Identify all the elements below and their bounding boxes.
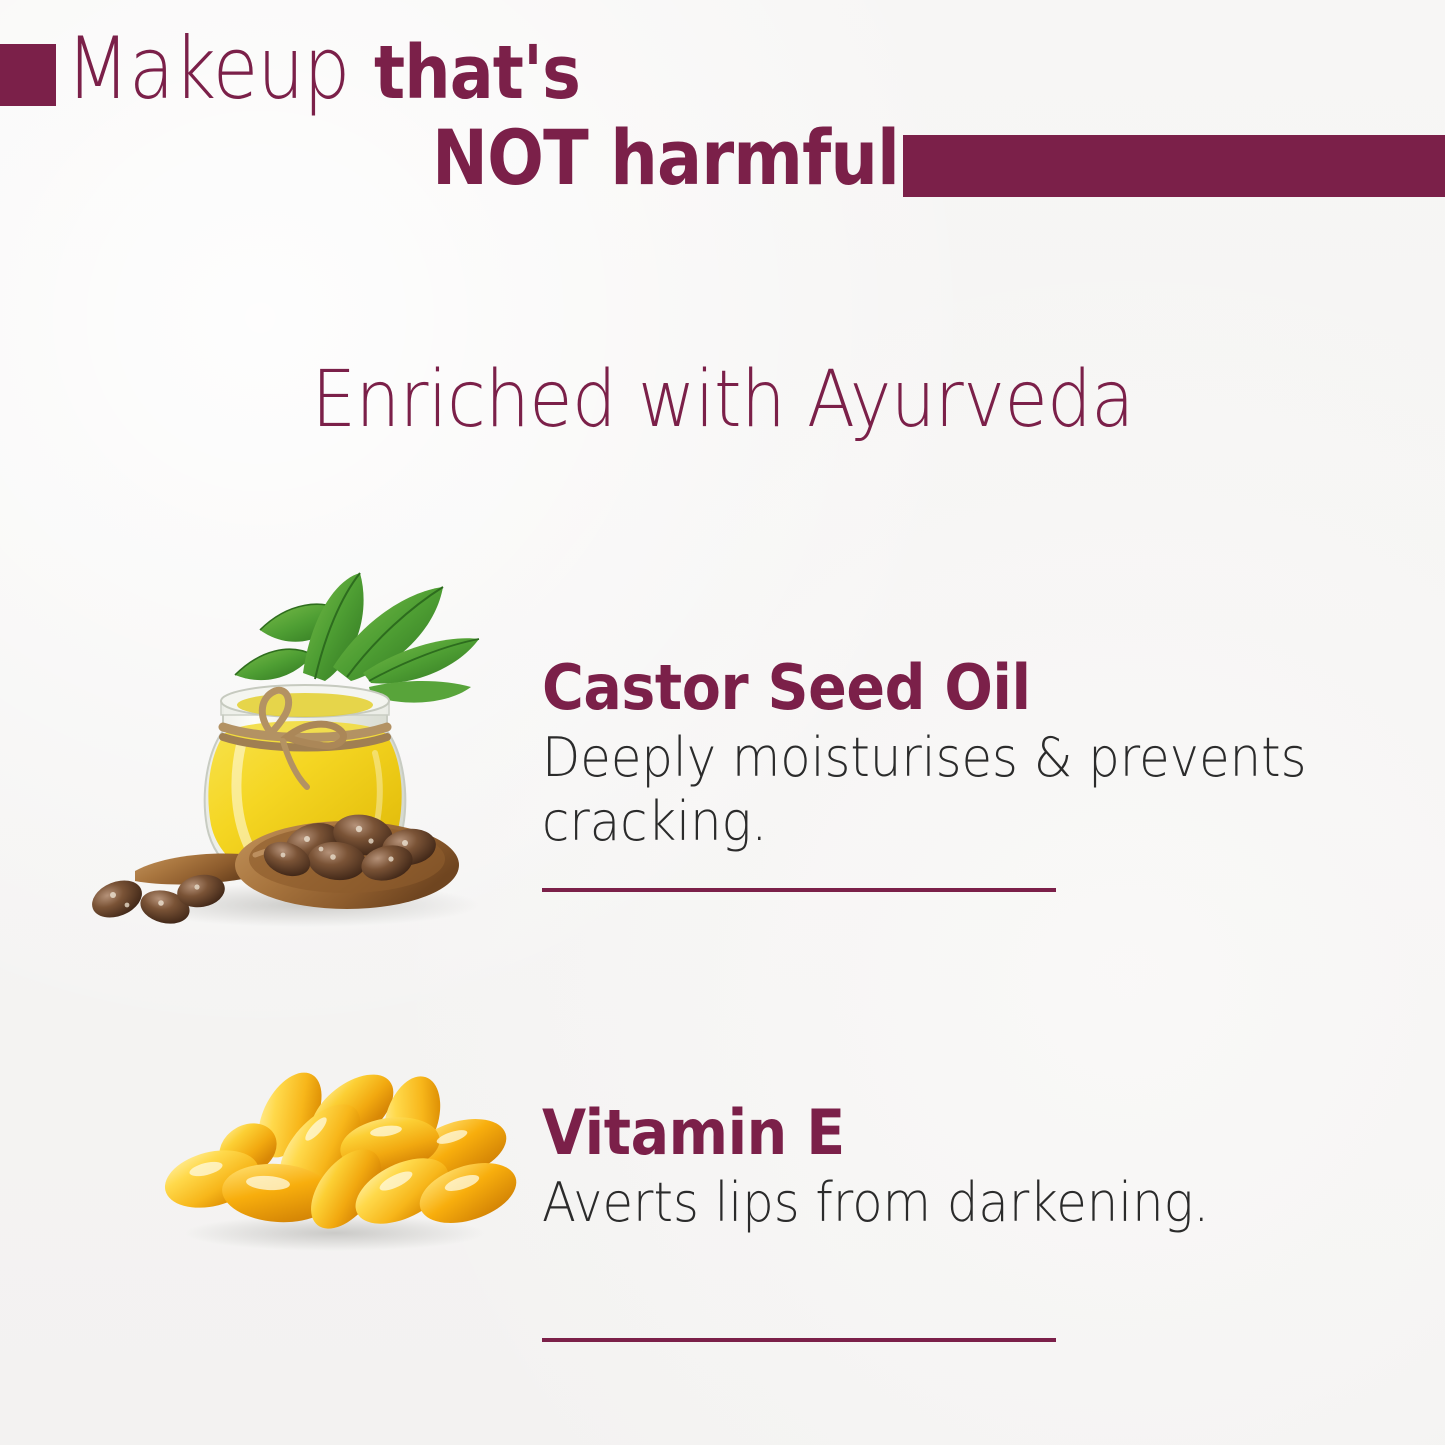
- product-benefits-poster: Makeupthat's NOT harmful Enriched with A…: [0, 0, 1445, 1445]
- subtitle-container: Enriched with Ayurveda: [0, 355, 1445, 445]
- divider-castor-seed-oil: [542, 888, 1056, 892]
- headline-word-thats: that's: [374, 36, 580, 110]
- castor-oil-jar-illustration: [75, 555, 535, 935]
- headline-line-2: NOT harmful: [432, 120, 963, 196]
- headline-line-1: Makeupthat's: [66, 26, 608, 112]
- vitamin-e-image: [140, 1067, 530, 1257]
- ingredient-description-vitamin-e: Averts lips from darkening.: [542, 1171, 1352, 1235]
- poster-header: Makeupthat's NOT harmful: [0, 0, 1445, 230]
- ingredient-name-vitamin-e: Vitamin E: [542, 1100, 1352, 1165]
- ingredient-row-castor-seed-oil: Castor Seed Oil Deeply moisturises & pre…: [0, 545, 1445, 945]
- header-accent-block-right: [903, 135, 1445, 197]
- vitamin-e-capsules-illustration: [140, 1067, 530, 1257]
- castor-seed-oil-text-block: Castor Seed Oil Deeply moisturises & pre…: [542, 655, 1422, 854]
- headline-word-makeup: Makeup: [66, 26, 350, 112]
- subtitle-text: Enriched with Ayurveda: [311, 355, 1133, 445]
- divider-vitamin-e: [542, 1338, 1056, 1342]
- vitamin-e-text-block: Vitamin E Averts lips from darkening.: [542, 1100, 1422, 1235]
- ingredient-name-castor-seed-oil: Castor Seed Oil: [542, 655, 1352, 720]
- neem-leaves-icon: [235, 573, 479, 703]
- headline-phrase-not-harmful: NOT harmful: [432, 120, 899, 196]
- castor-oil-image: [75, 555, 535, 935]
- ingredient-description-castor-seed-oil: Deeply moisturises & prevents cracking.: [542, 726, 1352, 853]
- ingredient-row-vitamin-e: Vitamin E Averts lips from darkening.: [0, 1055, 1445, 1375]
- header-accent-block-left: [0, 44, 56, 106]
